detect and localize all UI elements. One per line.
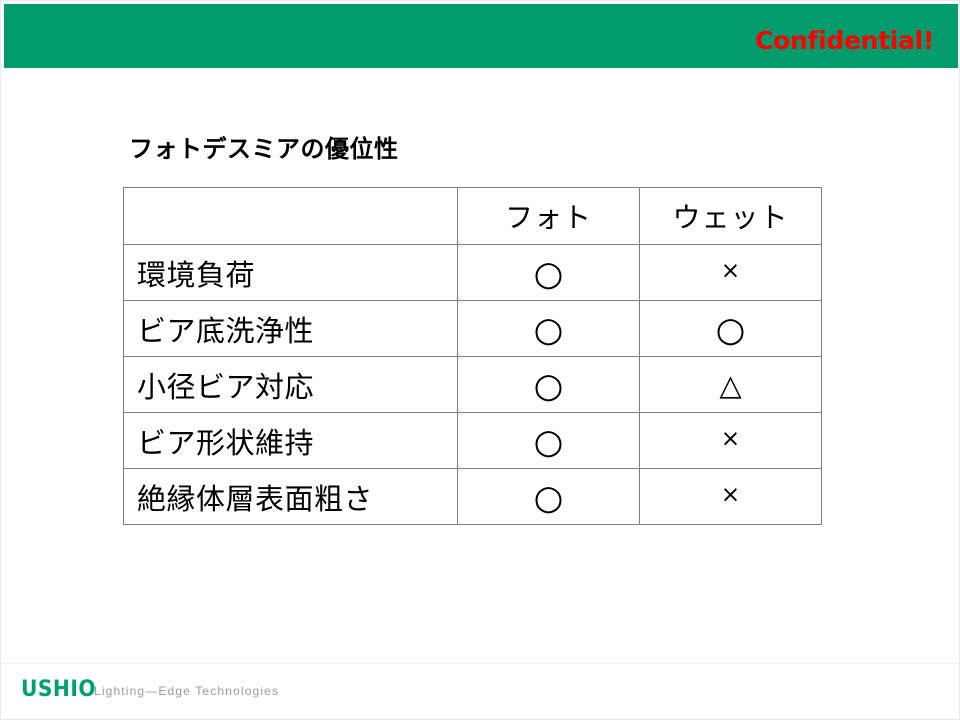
table-header-row: フォト ウェット bbox=[124, 188, 822, 245]
mark-cross-icon: × bbox=[721, 260, 740, 283]
cell-wet-small-diameter-via: △ bbox=[640, 357, 822, 413]
table-header-blank bbox=[124, 188, 458, 245]
row-label-small-diameter-via: 小径ビア対応 bbox=[124, 357, 458, 413]
ushio-tagline: Lighting—Edge Technologies bbox=[94, 684, 279, 698]
table-row: 環境負荷 ○ × bbox=[124, 245, 822, 301]
mark-circle-icon: ○ bbox=[534, 313, 564, 347]
slide: Confidential! フォトデスミアの優位性 フォト ウェット 環境負荷 bbox=[0, 0, 960, 720]
confidential-label: Confidential! bbox=[755, 26, 934, 55]
mark-triangle-icon: △ bbox=[719, 371, 741, 400]
cell-wet-insulator-surface-roughness: × bbox=[640, 469, 822, 525]
row-label-via-shape-retention: ビア形状維持 bbox=[124, 413, 458, 469]
slide-footer: USHIO Lighting—Edge Technologies bbox=[1, 663, 960, 719]
cell-wet-via-shape-retention: × bbox=[640, 413, 822, 469]
mark-circle-icon: ○ bbox=[534, 369, 564, 403]
confidential-header-bar: Confidential! bbox=[4, 4, 958, 68]
footer-divider bbox=[1, 663, 960, 664]
ushio-logo: USHIO bbox=[21, 677, 96, 702]
row-label-environmental-load: 環境負荷 bbox=[124, 245, 458, 301]
cell-photo-insulator-surface-roughness: ○ bbox=[458, 469, 640, 525]
cell-wet-environmental-load: × bbox=[640, 245, 822, 301]
comparison-table: フォト ウェット 環境負荷 ○ × ビア底洗浄性 ○ bbox=[123, 187, 822, 525]
table-row: ビア形状維持 ○ × bbox=[124, 413, 822, 469]
cell-wet-via-bottom-cleanability: ○ bbox=[640, 301, 822, 357]
cell-photo-environmental-load: ○ bbox=[458, 245, 640, 301]
table-row: ビア底洗浄性 ○ ○ bbox=[124, 301, 822, 357]
table-header-photo: フォト bbox=[458, 188, 640, 245]
cell-photo-via-bottom-cleanability: ○ bbox=[458, 301, 640, 357]
table-row: 絶縁体層表面粗さ ○ × bbox=[124, 469, 822, 525]
table-header-wet: ウェット bbox=[640, 188, 822, 245]
table-row: 小径ビア対応 ○ △ bbox=[124, 357, 822, 413]
comparison-table-wrapper: フォト ウェット 環境負荷 ○ × ビア底洗浄性 ○ bbox=[123, 187, 821, 525]
mark-circle-icon: ○ bbox=[716, 313, 746, 347]
row-label-via-bottom-cleanability: ビア底洗浄性 bbox=[124, 301, 458, 357]
mark-circle-icon: ○ bbox=[534, 257, 564, 291]
mark-circle-icon: ○ bbox=[534, 425, 564, 459]
page-title: フォトデスミアの優位性 bbox=[129, 129, 399, 164]
row-label-insulator-surface-roughness: 絶縁体層表面粗さ bbox=[124, 469, 458, 525]
cell-photo-small-diameter-via: ○ bbox=[458, 357, 640, 413]
cell-photo-via-shape-retention: ○ bbox=[458, 413, 640, 469]
mark-cross-icon: × bbox=[721, 484, 740, 507]
mark-circle-icon: ○ bbox=[534, 481, 564, 515]
mark-cross-icon: × bbox=[721, 428, 740, 451]
